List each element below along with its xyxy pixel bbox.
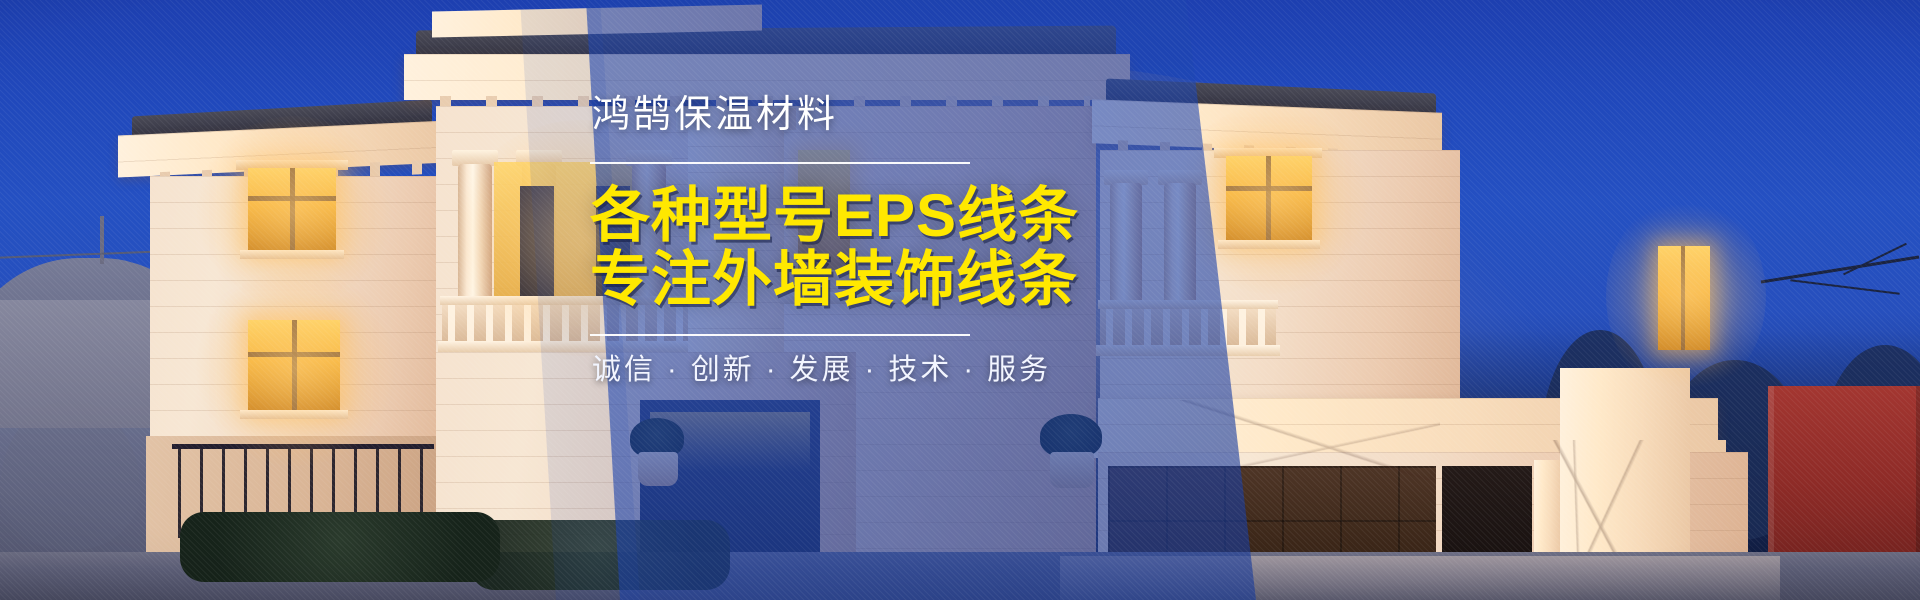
window-mullion bbox=[1681, 246, 1685, 350]
headline-line-1: 各种型号EPS线条 bbox=[590, 184, 1190, 248]
planter-pot bbox=[1050, 452, 1094, 488]
brand-name: 鸿鹄保温材料 bbox=[590, 96, 1190, 134]
window-transom bbox=[248, 352, 340, 357]
hedge bbox=[470, 520, 730, 590]
hero-banner: 鸿鹄保温材料 各种型号EPS线条 专注外墙装饰线条 诚信 · 创新 · 发展 ·… bbox=[0, 0, 1920, 600]
dome-finial bbox=[100, 216, 104, 264]
window-mullion bbox=[292, 320, 297, 412]
window-transom bbox=[1226, 186, 1312, 191]
tagline: 诚信 · 创新 · 发展 · 技术 · 服务 bbox=[590, 356, 1190, 385]
window-transom bbox=[248, 196, 336, 201]
portico-column bbox=[458, 164, 492, 314]
hedge bbox=[180, 512, 500, 582]
planter-pot bbox=[638, 452, 678, 486]
left-window-sill bbox=[240, 250, 344, 259]
window-mullion bbox=[290, 168, 295, 252]
loggia-door bbox=[520, 186, 554, 298]
headline-line-2: 专注外墙装饰线条 bbox=[590, 248, 1190, 312]
window-mullion bbox=[1266, 156, 1271, 242]
divider-top bbox=[590, 162, 970, 164]
iron-railing-top bbox=[172, 444, 434, 449]
right-window-sill bbox=[1218, 240, 1320, 249]
divider-bottom bbox=[590, 334, 970, 336]
left-window-sill bbox=[240, 410, 348, 419]
branch-shadow bbox=[1180, 400, 1440, 480]
banner-copy: 鸿鹄保温材料 各种型号EPS线条 专注外墙装饰线条 诚信 · 创新 · 发展 ·… bbox=[590, 96, 1190, 385]
driveway-sheen bbox=[1060, 556, 1780, 600]
